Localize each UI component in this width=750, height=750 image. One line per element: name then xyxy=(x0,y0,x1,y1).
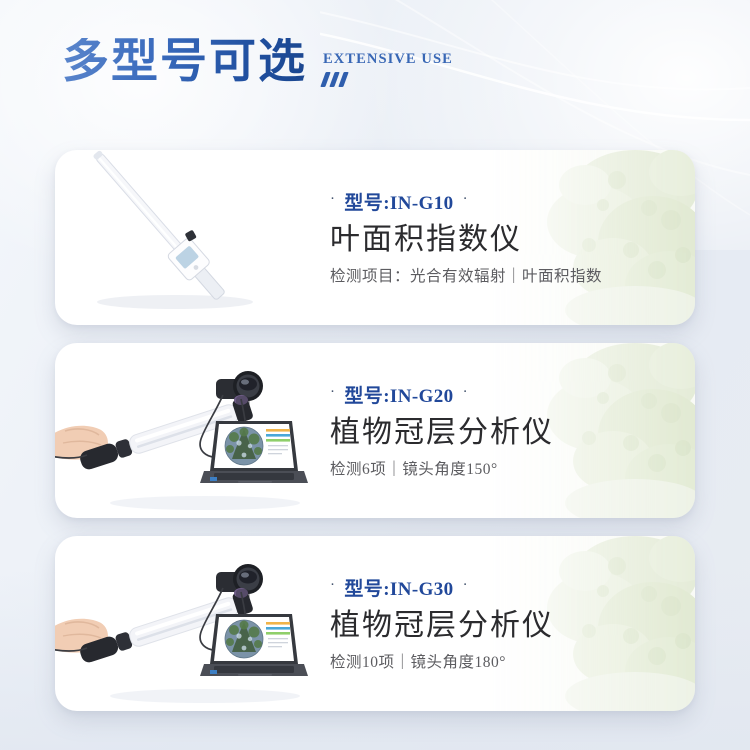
page-header: 多型号可选 EXTENSIVE USE xyxy=(62,38,453,87)
page-subtitle-group: EXTENSIVE USE xyxy=(323,38,453,87)
product-card-list: · 型号:IN-G10 · 叶面积指数仪 检测项目：光合有效辐射｜叶面积指数 xyxy=(55,150,695,711)
product-model-line: · 型号:IN-G30 · xyxy=(330,574,695,601)
product-image xyxy=(55,150,320,325)
product-info: · 型号:IN-G30 · 植物冠层分析仪 检测10项｜镜头角度180° xyxy=(320,574,695,673)
product-model-label: 型号:IN-G30 xyxy=(344,574,453,601)
product-card[interactable]: · 型号:IN-G30 · 植物冠层分析仪 检测10项｜镜头角度180° xyxy=(55,536,695,711)
product-card[interactable]: · 型号:IN-G10 · 叶面积指数仪 检测项目：光合有效辐射｜叶面积指数 xyxy=(55,150,695,325)
product-description: 检测6项｜镜头角度150° xyxy=(330,460,695,480)
canopy-analyzer-with-laptop-icon xyxy=(55,536,320,711)
canopy-analyzer-with-laptop-icon xyxy=(55,343,320,518)
model-dot-right: · xyxy=(463,578,468,593)
page-subtitle-en: EXTENSIVE USE xyxy=(323,51,453,68)
product-model-label: 型号:IN-G20 xyxy=(344,381,453,408)
model-dot-left: · xyxy=(330,385,335,400)
product-model-line: · 型号:IN-G10 · xyxy=(330,188,695,215)
product-card[interactable]: · 型号:IN-G20 · 植物冠层分析仪 检测6项｜镜头角度150° xyxy=(55,343,695,518)
product-image xyxy=(55,536,320,711)
model-dot-left: · xyxy=(330,578,335,593)
page-title: 多型号可选 xyxy=(62,38,307,87)
product-description: 检测项目：光合有效辐射｜叶面积指数 xyxy=(330,267,695,287)
model-dot-right: · xyxy=(463,385,468,400)
product-title: 植物冠层分析仪 xyxy=(330,608,695,644)
product-title: 植物冠层分析仪 xyxy=(330,415,695,451)
product-image xyxy=(55,343,320,518)
product-model-line: · 型号:IN-G20 · xyxy=(330,381,695,408)
product-info: · 型号:IN-G10 · 叶面积指数仪 检测项目：光合有效辐射｜叶面积指数 xyxy=(320,188,695,287)
product-title: 叶面积指数仪 xyxy=(330,222,695,258)
product-model-label: 型号:IN-G10 xyxy=(344,188,453,215)
model-dot-right: · xyxy=(463,192,468,207)
model-dot-left: · xyxy=(330,192,335,207)
leaf-area-index-wand-icon xyxy=(55,150,320,325)
product-description: 检测10项｜镜头角度180° xyxy=(330,653,695,673)
page-background: 多型号可选 EXTENSIVE USE xyxy=(0,0,750,750)
slashes-decoration-icon xyxy=(320,72,455,87)
product-info: · 型号:IN-G20 · 植物冠层分析仪 检测6项｜镜头角度150° xyxy=(320,381,695,480)
